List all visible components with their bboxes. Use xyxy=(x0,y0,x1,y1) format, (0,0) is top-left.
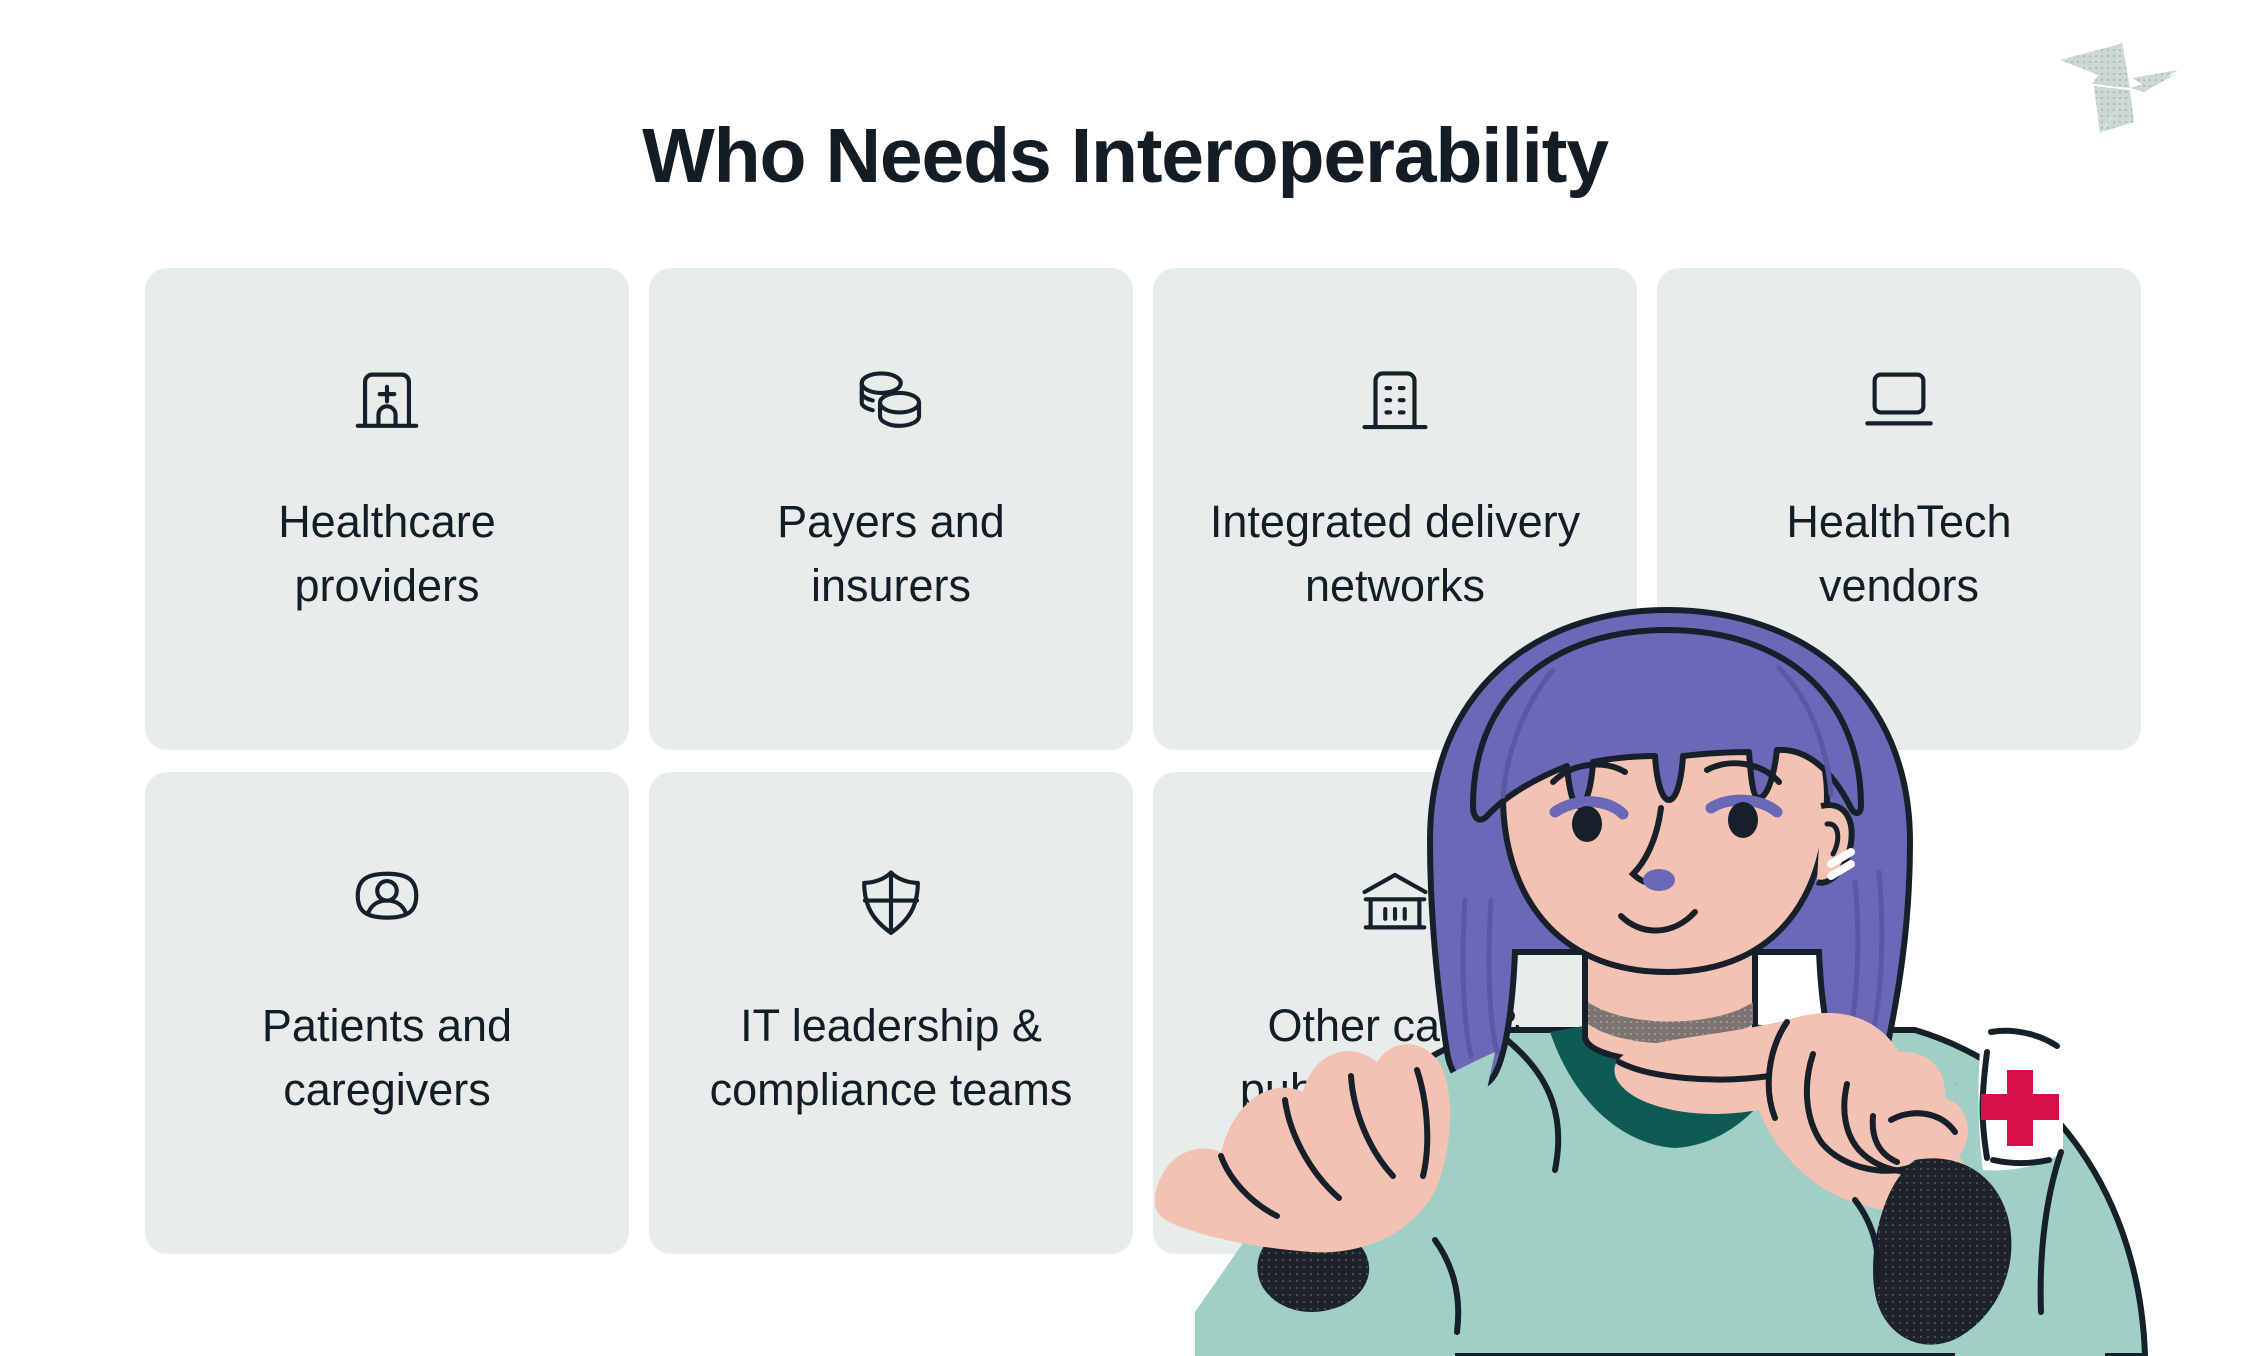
card-label: Patients and caregivers xyxy=(172,994,602,1122)
card-integrated-delivery-networks[interactable]: Integrated delivery networks xyxy=(1153,268,1637,750)
card-label: Other care & public agencies xyxy=(1180,994,1610,1122)
slide-canvas: Who Needs Interoperability Healthcare pr… xyxy=(0,0,2250,1356)
card-patients-and-caregivers[interactable]: Patients and caregivers xyxy=(145,772,629,1254)
card-healthtech-vendors[interactable]: HealthTech vendors xyxy=(1657,268,2141,750)
card-label: Payers and insurers xyxy=(676,490,1106,618)
hospital-icon xyxy=(344,356,430,442)
laptop-icon xyxy=(1856,356,1942,442)
coins-icon xyxy=(848,356,934,442)
shield-icon xyxy=(848,860,934,946)
card-label: HealthTech vendors xyxy=(1684,490,2114,618)
card-healthcare-providers[interactable]: Healthcare providers xyxy=(145,268,629,750)
user-avatar-icon xyxy=(344,860,430,946)
card-label: Healthcare providers xyxy=(172,490,602,618)
card-payers-and-insurers[interactable]: Payers and insurers xyxy=(649,268,1133,750)
card-label: Integrated delivery networks xyxy=(1180,490,1610,618)
institution-icon xyxy=(1352,860,1438,946)
page-title: Who Needs Interoperability xyxy=(0,112,2250,201)
office-building-icon xyxy=(1352,356,1438,442)
card-other-care-public-agencies[interactable]: Other care & public agencies xyxy=(1153,772,1637,1254)
card-label: IT leadership & compliance teams xyxy=(676,994,1106,1122)
audience-card-grid: Healthcare providers Payers and insurers xyxy=(145,268,2141,1254)
card-it-leadership-compliance[interactable]: IT leadership & compliance teams xyxy=(649,772,1133,1254)
